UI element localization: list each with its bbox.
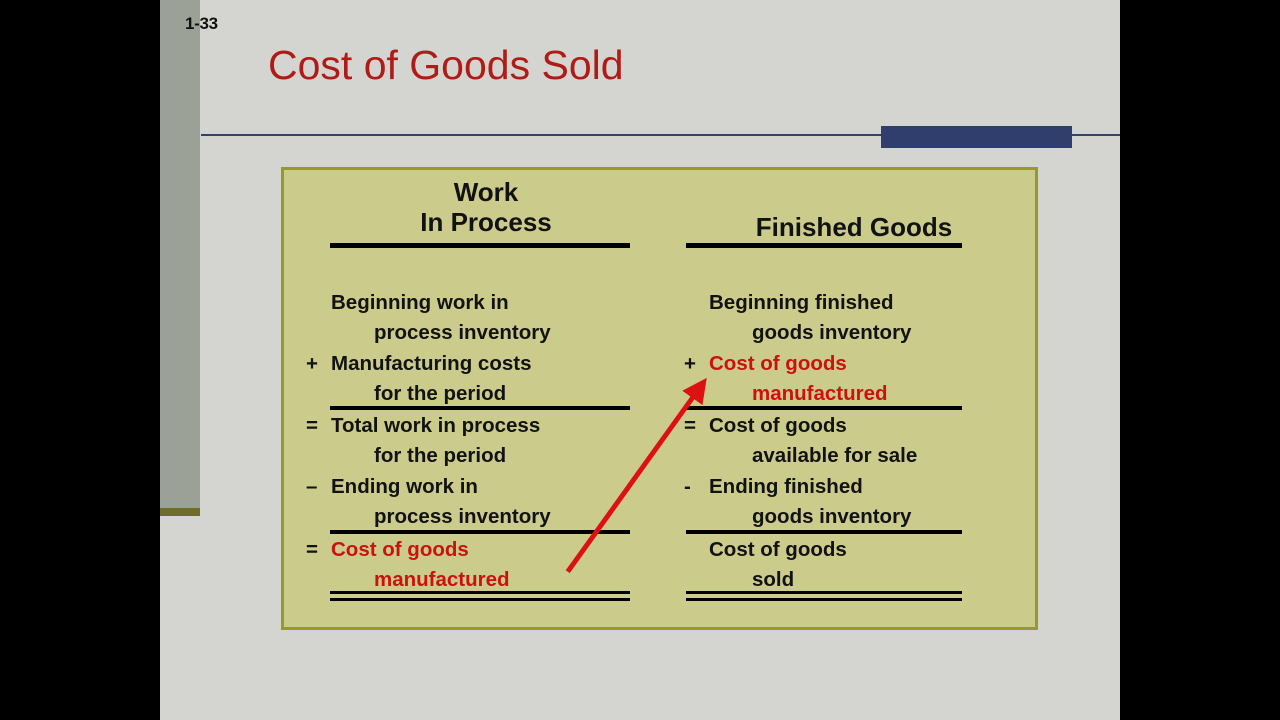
total-rule-bottom bbox=[330, 598, 630, 601]
row-line2: for the period bbox=[374, 384, 506, 405]
column-header-work-in-process: Work In Process bbox=[306, 177, 666, 238]
row-line2: available for sale bbox=[752, 446, 917, 467]
column-header-finished-goods: Finished Goods bbox=[684, 212, 1024, 242]
column-header-line2: Finished Goods bbox=[684, 212, 1024, 242]
slide-canvas: 1-33 Cost of Goods Sold Work In Process bbox=[160, 0, 1120, 720]
row-line2: process inventory bbox=[374, 323, 551, 344]
total-rule-bottom bbox=[686, 598, 962, 601]
row-operator: - bbox=[684, 477, 704, 498]
row-line1: Cost of goods bbox=[709, 416, 847, 437]
row-operator: + bbox=[684, 354, 704, 375]
decorative-grey-column bbox=[160, 0, 200, 508]
row-line1: Ending finished bbox=[709, 477, 863, 498]
row-operator: = bbox=[306, 540, 326, 561]
subtotal-rule-2 bbox=[686, 530, 962, 534]
column-header-line2: In Process bbox=[306, 207, 666, 237]
page-title: Cost of Goods Sold bbox=[268, 42, 624, 89]
row-line2: for the period bbox=[374, 446, 506, 467]
subtotal-rule-2 bbox=[330, 530, 630, 534]
row-line2: goods inventory bbox=[752, 507, 911, 528]
row-line1: Cost of goods bbox=[709, 540, 847, 561]
row-line1: Cost of goods bbox=[709, 354, 847, 375]
header-underline bbox=[330, 243, 630, 248]
navy-accent-block bbox=[881, 126, 1072, 148]
cogs-diagram-panel: Work In Process Beginning work in proces… bbox=[281, 167, 1038, 630]
row-line1: Manufacturing costs bbox=[331, 354, 531, 375]
slide-number: 1-33 bbox=[185, 14, 218, 34]
row-line1: Ending work in bbox=[331, 477, 478, 498]
row-line1: Cost of goods bbox=[331, 540, 469, 561]
column-header-line1: Work bbox=[306, 177, 666, 207]
diagram-columns: Work In Process Beginning work in proces… bbox=[284, 170, 1035, 627]
column-work-in-process: Work In Process Beginning work in proces… bbox=[306, 170, 666, 627]
total-rule-top bbox=[330, 591, 630, 594]
subtotal-rule-1 bbox=[686, 406, 962, 410]
column-finished-goods: Finished Goods Beginning finished goods … bbox=[684, 170, 1024, 627]
row-line2: manufactured bbox=[374, 570, 510, 591]
row-operator: = bbox=[684, 416, 704, 437]
row-operator: = bbox=[306, 416, 326, 437]
decorative-olive-foot bbox=[160, 508, 200, 516]
row-line1: Beginning work in bbox=[331, 293, 509, 314]
row-line2: sold bbox=[752, 570, 794, 591]
row-line2: process inventory bbox=[374, 507, 551, 528]
row-line2: manufactured bbox=[752, 384, 888, 405]
total-rule-top bbox=[686, 591, 962, 594]
row-line1: Total work in process bbox=[331, 416, 540, 437]
subtotal-rule-1 bbox=[330, 406, 630, 410]
header-underline bbox=[686, 243, 962, 248]
row-operator: + bbox=[306, 354, 326, 375]
row-operator: – bbox=[306, 477, 326, 498]
row-line2: goods inventory bbox=[752, 323, 911, 344]
row-line1: Beginning finished bbox=[709, 293, 894, 314]
screen: 1-33 Cost of Goods Sold Work In Process bbox=[0, 0, 1280, 720]
